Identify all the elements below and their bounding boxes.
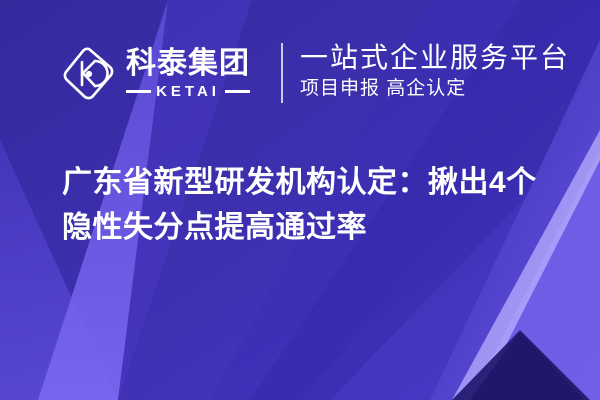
headline-title: 广东省新型研发机构认定：揪出4个隐性失分点提高通过率 (62, 160, 562, 250)
tagline-secondary: 项目申报 高企认定 (300, 77, 570, 102)
tagline-primary: 一站式企业服务平台 (300, 40, 570, 75)
brand-lockup: 科泰集团 KETAI (62, 40, 250, 108)
promo-banner: 科泰集团 KETAI 一站式企业服务平台 项目申报 高企认定 广东省新型研发机构… (0, 0, 600, 400)
tagline-block: 一站式企业服务平台 项目申报 高企认定 (300, 40, 570, 102)
vertical-divider (281, 43, 283, 103)
logo-en-row: KETAI (126, 83, 250, 100)
ketai-diamond-k-logo-icon (62, 45, 116, 103)
logo-dash-right (225, 90, 250, 93)
logo-company-en: KETAI (151, 83, 225, 100)
logo-dash-left (126, 90, 151, 93)
logo-wordmark: 科泰集团 KETAI (126, 48, 250, 100)
banner-content: 科泰集团 KETAI 一站式企业服务平台 项目申报 高企认定 广东省新型研发机构… (0, 0, 600, 400)
logo-company-cn: 科泰集团 (126, 48, 250, 80)
